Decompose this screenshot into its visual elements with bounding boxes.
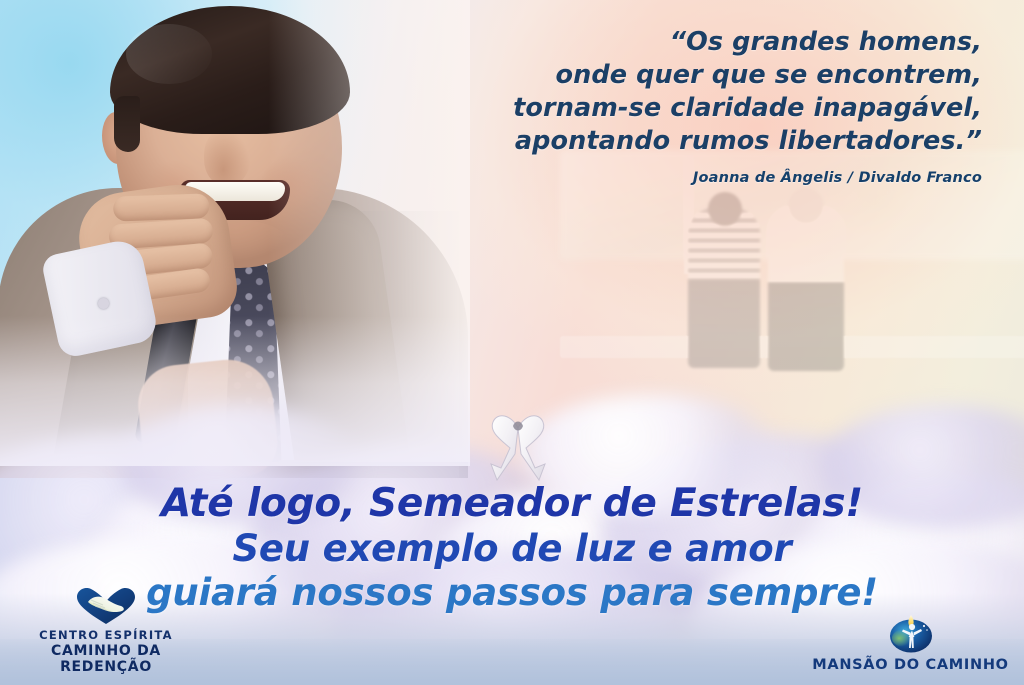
logo-centro-espirita: CENTRO ESPÍRITA CAMINHO DA REDENÇÃO	[6, 586, 206, 675]
portrait-cuff-button	[98, 298, 109, 309]
portrait-sideburn	[114, 96, 140, 152]
headline-line-2: Seu exemplo de luz e amor	[0, 530, 1024, 567]
logo-right-line-1: MANSÃO DO CAMINHO	[803, 657, 1018, 673]
portrait-hair	[110, 6, 350, 134]
ghost-photo-person-head-1	[708, 192, 742, 226]
memorial-poster: “Os grandes homens, onde quer que se enc…	[0, 0, 1024, 685]
portrait-nose	[204, 128, 250, 186]
quote-line-1: “Os grandes homens,	[422, 26, 982, 59]
ghost-photo-person-striped-shirt	[688, 208, 760, 368]
logo-left-line-2: CAMINHO DA REDENÇÃO	[6, 643, 206, 675]
awareness-ribbon-icon	[481, 406, 555, 490]
headline-line-1: Até logo, Semeador de Estrelas!	[0, 484, 1024, 523]
portrait-photo	[0, 0, 470, 462]
portrait-finger	[113, 193, 210, 221]
portrait-lower-hand	[134, 355, 281, 486]
ghost-photo-two-people-walking	[560, 150, 1024, 420]
globe-figure-flame-icon	[883, 613, 939, 655]
quote-line-2: onde quer que se encontrem,	[422, 59, 982, 92]
logo-mansao-do-caminho: MANSÃO DO CAMINHO	[803, 613, 1018, 673]
quote-block: “Os grandes homens, onde quer que se enc…	[422, 26, 982, 158]
ghost-photo-person-head-2	[788, 188, 824, 224]
quote-line-3: tornam-se claridade inapagável,	[422, 92, 982, 125]
logo-left-line-1: CENTRO ESPÍRITA	[6, 628, 206, 642]
quote-attribution: Joanna de Ângelis / Divaldo Franco	[422, 170, 982, 186]
heart-hand-icon	[74, 586, 138, 626]
quote-line-4: apontando rumos libertadores.”	[422, 125, 982, 158]
ghost-photo-person-white-shirt	[768, 206, 844, 371]
